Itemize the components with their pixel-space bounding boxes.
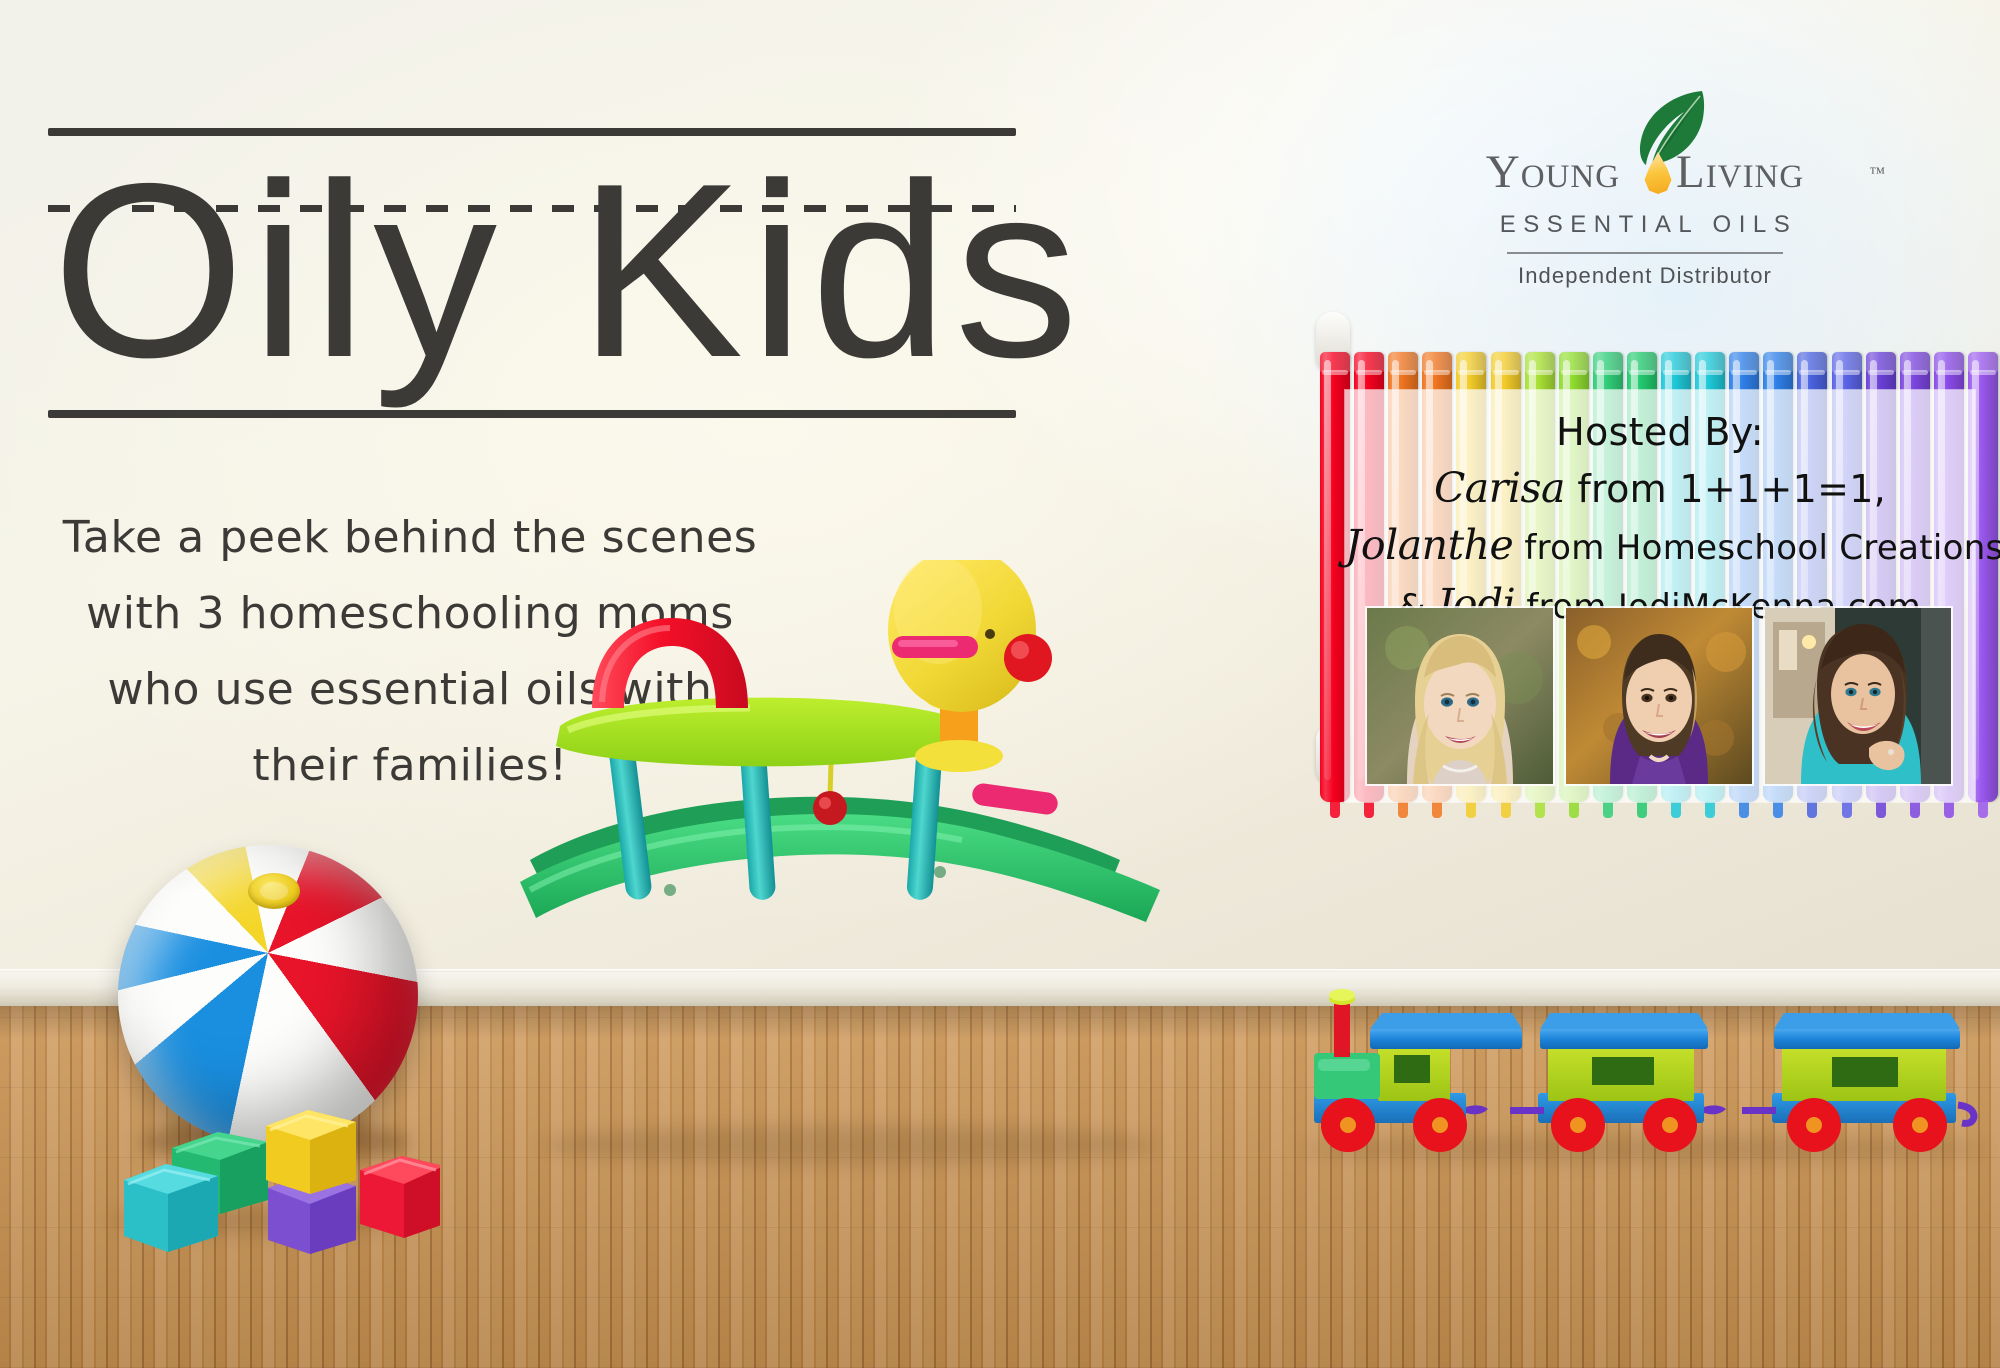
trademark-symbol: ™ (1869, 142, 1886, 206)
toy-nose (1004, 634, 1052, 682)
logo-subtitle: ESSENTIAL OILS (1430, 211, 1860, 239)
marker-cap-12 (1695, 350, 1725, 372)
train-engine (1314, 989, 1522, 1152)
page-title: Oily Kids (52, 120, 1032, 420)
marker-cap-1 (1320, 350, 1350, 372)
host-line-1: Carisa from 1+1+1=1, (1345, 460, 1975, 517)
rocking-bug-toy (520, 560, 1170, 960)
logo-y-cap: Y (1486, 146, 1521, 198)
marker-cap-11 (1661, 350, 1691, 372)
marker-cap-7 (1525, 350, 1555, 372)
teal-block (124, 1164, 218, 1252)
marker-tip-3 (1398, 800, 1408, 818)
marker-tip-20 (1978, 800, 1988, 818)
marker-tip-9 (1603, 800, 1613, 818)
marker-tip-8 (1569, 800, 1579, 818)
marker-cap-20 (1968, 350, 1998, 372)
host-1-rest: from 1+1+1=1, (1577, 467, 1886, 511)
marker-tip-5 (1466, 800, 1476, 818)
marker-cap-13 (1729, 350, 1759, 372)
marker-cap-2 (1354, 350, 1384, 372)
marker-tip-19 (1944, 800, 1954, 818)
red-block (360, 1156, 440, 1238)
marker-cap-10 (1627, 350, 1657, 372)
building-blocks (100, 1040, 440, 1270)
young-living-wordmark: YOUNGLIVING™ (1430, 140, 1860, 204)
young-living-logo: YOUNGLIVING™ ESSENTIAL OILS Independent … (1430, 140, 1860, 289)
logo-divider (1507, 252, 1783, 254)
marker-cap-17 (1866, 350, 1896, 372)
host-2-name: Jolanthe (1345, 521, 1513, 569)
host-1-name: Carisa (1434, 464, 1565, 512)
marker-tip-16 (1842, 800, 1852, 818)
yellow-block (266, 1110, 356, 1194)
marker-cap-5 (1456, 350, 1486, 372)
marker-cap-15 (1797, 350, 1827, 372)
logo-young-rest: OUNG (1521, 159, 1620, 195)
train-car-2 (1742, 1013, 1974, 1152)
marker-tip-2 (1364, 800, 1374, 818)
hosted-by-panel: Hosted By: Carisa from 1+1+1=1, Jolanthe… (1345, 390, 1975, 802)
marker-tip-1 (1330, 800, 1340, 818)
train-car-1 (1510, 1013, 1726, 1152)
marker-cap-3 (1388, 350, 1418, 372)
marker-cap-8 (1559, 350, 1589, 372)
poster-canvas: Oily Kids Take a peek behind the scenes … (0, 0, 2000, 1368)
marker-tip-17 (1876, 800, 1886, 818)
marker-tip-15 (1807, 800, 1817, 818)
marker-tip-7 (1535, 800, 1545, 818)
marker-cap-19 (1934, 350, 1964, 372)
hosted-by-text: Hosted By: Carisa from 1+1+1=1, Jolanthe… (1345, 404, 1975, 635)
marker-cap-4 (1422, 350, 1452, 372)
rocker-backrest (592, 618, 748, 708)
marker-tip-4 (1432, 800, 1442, 818)
marker-tip-6 (1501, 800, 1511, 818)
logo-living-rest: IVING (1706, 159, 1804, 195)
toy-rear-handle (971, 782, 1059, 816)
marker-cap-9 (1593, 350, 1623, 372)
logo-distributor-label: Independent Distributor (1430, 263, 1860, 289)
wooden-toy-train (1290, 985, 2000, 1165)
avatar-carisa (1367, 608, 1553, 784)
toy-eye (985, 629, 995, 639)
hosted-by-heading: Hosted By: (1345, 404, 1975, 460)
avatar-jodi (1765, 608, 1951, 784)
marker-tip-11 (1671, 800, 1681, 818)
rocker-shadow (540, 1125, 1160, 1165)
marker-cap-16 (1832, 350, 1862, 372)
avatar-jolanthe (1566, 608, 1752, 784)
host-photo-row (1367, 608, 1953, 784)
marker-tip-14 (1773, 800, 1783, 818)
toy-neck-base (915, 740, 1003, 772)
red-bead (813, 791, 847, 825)
marker-tip-13 (1739, 800, 1749, 818)
host-2-rest: from Homeschool Creations, (1524, 528, 2000, 568)
marker-tip-18 (1910, 800, 1920, 818)
marker-tip-10 (1637, 800, 1647, 818)
marker-tip-12 (1705, 800, 1715, 818)
ball-valve-icon (248, 873, 300, 909)
marker-cap-14 (1763, 350, 1793, 372)
host-line-2: Jolanthe from Homeschool Creations, (1345, 517, 1975, 576)
marker-cap-18 (1900, 350, 1930, 372)
leaf-icon (1632, 88, 1706, 166)
marker-cap-6 (1491, 350, 1521, 372)
